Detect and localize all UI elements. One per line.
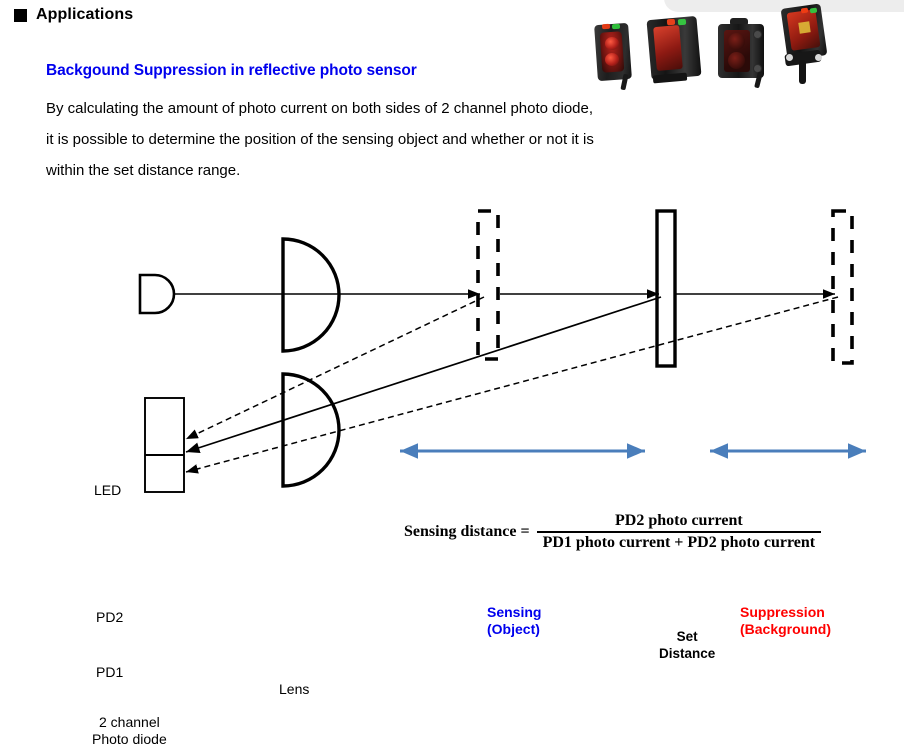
page-header: Applications xyxy=(14,6,133,24)
product-image-photo-sensor-wide-red-face xyxy=(647,12,703,82)
label-pd1: PD1 xyxy=(96,664,123,680)
label-lens: Lens xyxy=(279,681,309,697)
label-photo-diode-line-1: 2 channel xyxy=(92,714,167,731)
led-symbol xyxy=(140,275,174,313)
label-photo-diode-line-2: Photo diode xyxy=(92,731,167,748)
intro-block: Backgound Suppression in reflective phot… xyxy=(46,62,646,186)
label-led: LED xyxy=(94,482,121,498)
product-photo-strip xyxy=(590,4,829,82)
optical-path-diagram: LED PD2 PD1 Lens 2 channel Photo diode S… xyxy=(0,196,904,565)
label-photo-diode: 2 channel Photo diode xyxy=(92,714,167,748)
label-set-distance: Set Distance xyxy=(659,628,715,662)
page-title: Applications xyxy=(36,6,133,24)
label-sensing-line-1: Sensing xyxy=(487,604,541,621)
label-suppression-line-1: Suppression xyxy=(740,604,831,621)
intro-line-3: within the set distance range. xyxy=(46,155,646,186)
formula-denominator: PD1 photo current + PD2 photo current xyxy=(537,531,822,552)
set-distance-plate-rect xyxy=(657,211,675,366)
emitter-lens-shape xyxy=(283,239,339,351)
reflected-ray-set-distance xyxy=(186,297,661,452)
label-sensing-object: Sensing (Object) xyxy=(487,604,541,638)
label-set-distance-line-2: Distance xyxy=(659,645,715,662)
product-image-photo-sensor-dual-lens xyxy=(590,18,636,82)
product-image-photo-sensor-dark-oval xyxy=(714,16,768,82)
product-image-photo-sensor-angled-cable xyxy=(779,4,829,82)
formula-left-hand-side: Sensing distance = xyxy=(404,523,530,541)
photo-diode-box xyxy=(145,398,184,492)
formula-fraction: PD2 photo current PD1 photo current + PD… xyxy=(537,512,822,552)
label-suppression-background: Suppression (Background) xyxy=(740,604,831,638)
receiver-lens-shape xyxy=(283,374,339,486)
label-suppression-line-2: (Background) xyxy=(740,621,831,638)
label-set-distance-line-1: Set xyxy=(659,628,715,645)
background-object-dashed-rect xyxy=(833,211,852,363)
object-near-dashed-rect xyxy=(478,211,498,359)
intro-line-2: it is possible to determine the position… xyxy=(46,124,646,155)
filled-square-bullet-icon xyxy=(14,9,27,22)
label-pd2: PD2 xyxy=(96,609,123,625)
formula-numerator: PD2 photo current xyxy=(609,512,749,531)
intro-heading: Backgound Suppression in reflective phot… xyxy=(46,62,646,80)
intro-line-1: By calculating the amount of photo curre… xyxy=(46,93,646,124)
label-sensing-line-2: (Object) xyxy=(487,621,541,638)
sensing-distance-formula: Sensing distance = PD2 photo current PD1… xyxy=(404,512,821,552)
